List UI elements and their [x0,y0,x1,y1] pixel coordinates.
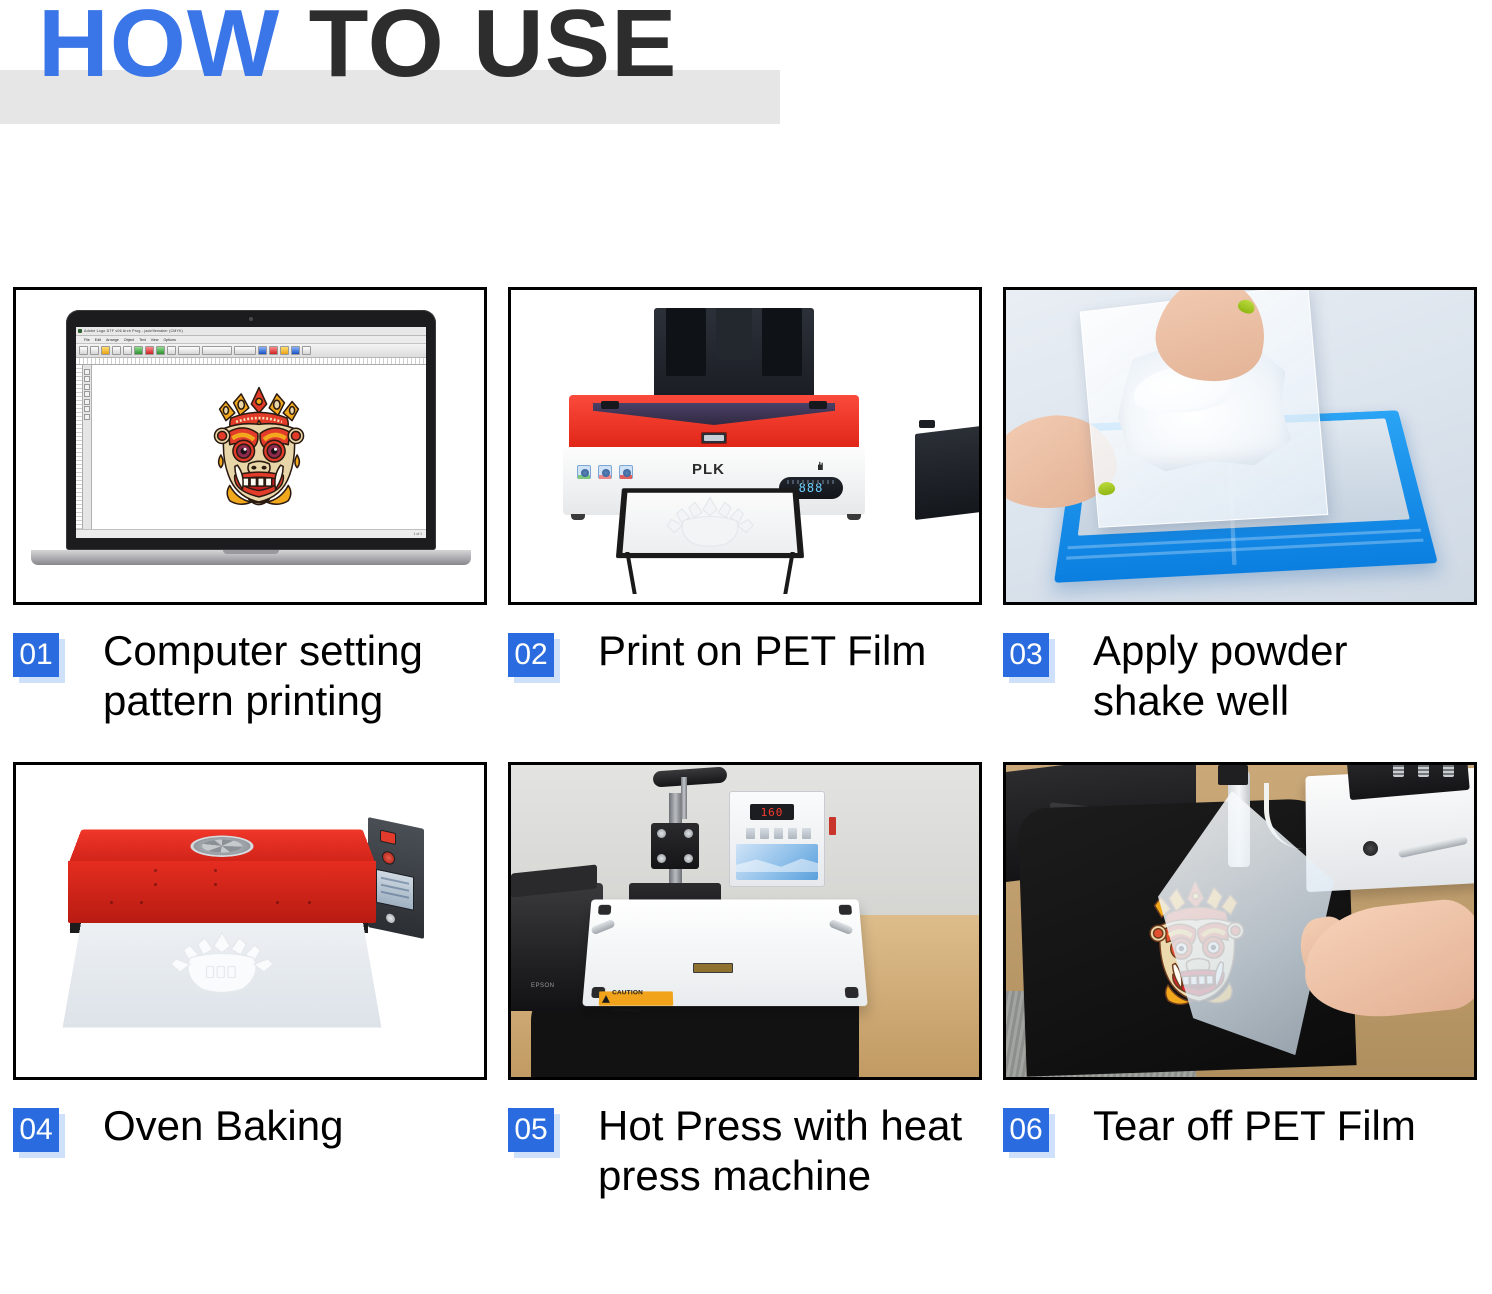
platen-corner-tr [839,905,852,915]
app-statusbar: 1 of 1 [76,529,426,538]
step-caption-04: 04 Oven Baking [13,1101,487,1158]
step-cell-03: 03 Apply powder shake well [1003,287,1477,725]
step-badge-06: 06 [1003,1108,1059,1158]
step-badge-02: 02 [508,633,564,683]
step-cell-05: EPSON 160 [508,762,982,1200]
printer-ink-cap [919,420,935,428]
press-button-set[interactable] [746,828,755,839]
warning-triangle-icon [602,995,610,1003]
caution-subtitle: HOT SURFACES [612,1008,640,1012]
printer-ink-tank [915,426,981,520]
press-pivot-bracket [651,823,699,869]
press-control-buttons [746,828,811,839]
oven-fan-vent-icon [190,836,255,857]
badge-number: 04 [13,1108,59,1152]
menu-item-arrange[interactable]: Arrange [106,338,119,342]
step-caption-text: Tear off PET Film [1071,1101,1416,1151]
step-cell-04: 04 Oven Baking [13,762,487,1200]
app-titlebar: Adobe Logo DTF v06 Arch Prog - jackfilem… [76,327,426,336]
scene-peel-film-off-shirt [1006,765,1474,1077]
tool-text[interactable] [84,399,90,405]
menu-item-options[interactable]: Options [164,338,176,342]
printer-button-group [577,465,633,479]
epson-brand-label: EPSON [531,983,555,989]
press-nameplate [693,963,733,973]
step-cell-01: Adobe Logo DTF v06 Arch Prog - jackfilem… [13,287,487,725]
step-photo-04 [13,762,487,1080]
step-caption-01: 01 Computer setting pattern printing [13,626,487,725]
toolbar-button-copy[interactable] [134,346,143,355]
step-badge-04: 04 [13,1108,69,1158]
printer-latch-left[interactable] [601,401,619,409]
printer-brand-logo: PLK [692,461,725,478]
app-icon [78,329,82,333]
printer-feed-button[interactable] [598,465,612,479]
badge-number: 05 [508,1108,554,1152]
step-caption-05: 05 Hot Press with heat press machine [508,1101,982,1200]
printer-cancel-button[interactable] [619,465,633,479]
caution-sticker: CAUTION HOT SURFACES [599,992,673,1006]
printer-feeder-guide [716,308,752,360]
vertical-ruler [76,365,83,529]
toolbar-button-effects[interactable] [302,346,311,355]
step-caption-text: Computer setting pattern printing [81,626,471,725]
toolbar-button-undo[interactable] [156,346,165,355]
toolbar-size-select[interactable] [234,346,256,355]
press-control-box: 160 [729,791,825,887]
app-canvas-area [76,365,426,529]
printer-touch-icon [815,461,825,470]
platen-corner-tl [598,905,611,915]
step-badge-05: 05 [508,1108,564,1158]
laptop-base [31,550,471,565]
toolbar-button-paste[interactable] [145,346,154,355]
scene-laptop-design-software: Adobe Logo DTF v06 Arch Prog - jackfilem… [16,290,484,602]
app-menubar: File Edit Arrange Object Text View Optio… [76,336,426,344]
step-caption-text: Oven Baking [81,1101,343,1151]
printer-status-window [701,432,727,444]
press-button-mode[interactable] [788,828,797,839]
printer-latch-right[interactable] [809,401,827,409]
pet-film-sheet [622,493,797,553]
press-button-up[interactable] [760,828,769,839]
tool-zoom[interactable] [84,414,90,420]
printer-power-button[interactable] [577,465,591,479]
toolbar-font-select[interactable] [202,346,232,355]
printer-display-value: 888 [799,481,824,495]
menu-item-object[interactable]: Object [124,338,134,342]
step-cell-06: 06 Tear off PET Film [1003,762,1477,1200]
app-window-title: Adobe Logo DTF v06 Arch Prog - jackfilem… [84,329,183,333]
step-photo-02: PLK 888 [508,287,982,605]
app-status-text: 1 of 1 [414,532,422,536]
printer-top-cover [569,395,859,447]
menu-item-text[interactable]: Text [139,338,146,342]
scene-powder-tray-hands [1006,290,1474,602]
tool-pen[interactable] [84,391,90,397]
step-photo-05: EPSON 160 [508,762,982,1080]
steps-grid: Adobe Logo DTF v06 Arch Prog - jackfilem… [13,287,1479,1200]
laptop-screen: Adobe Logo DTF v06 Arch Prog - jackfilem… [76,327,426,538]
press-temperature-display: 160 [750,804,794,820]
menu-item-file[interactable]: File [84,338,90,342]
laptop: Adobe Logo DTF v06 Arch Prog - jackfilem… [66,310,436,550]
toolbar-button-stroke[interactable] [269,346,278,355]
tool-node[interactable] [84,376,90,382]
scene-dtf-printer: PLK 888 [511,290,979,602]
press-power-switch[interactable] [829,817,836,835]
step-caption-06: 06 Tear off PET Film [1003,1101,1477,1158]
horizontal-ruler [76,358,426,365]
tool-shape[interactable] [84,384,90,390]
toolbar-button-gradient[interactable] [280,346,289,355]
tool-palette [83,365,92,529]
badge-number: 02 [508,633,554,677]
page-title-rest: TO USE [280,0,677,97]
toolbar-button-palette[interactable] [291,346,300,355]
steps-row-1: Adobe Logo DTF v06 Arch Prog - jackfilem… [13,287,1479,725]
step-caption-text: Hot Press with heat press machine [576,1101,966,1200]
menu-item-edit[interactable]: Edit [95,338,101,342]
toolbar-button-print[interactable] [112,346,121,355]
baked-powder-design [160,929,284,1001]
platen-corner-br [845,987,859,998]
step-badge-01: 01 [13,633,69,683]
page-header: HOW TO USE [0,0,1492,150]
oven-temperature-knob[interactable] [382,850,395,866]
press-button-down[interactable] [774,828,783,839]
tool-select[interactable] [84,369,90,375]
oven-port [386,913,395,924]
press-button-start[interactable] [802,828,811,839]
scene-curing-oven [16,765,484,1077]
page-title-accent: HOW [38,0,280,97]
step-caption-03: 03 Apply powder shake well [1003,626,1477,725]
toolbar-button-fill[interactable] [258,346,267,355]
step-photo-01: Adobe Logo DTF v06 Arch Prog - jackfilem… [13,287,487,605]
step-caption-text: Apply powder shake well [1071,626,1461,725]
printer-window [593,403,835,425]
toolbar-button-cut[interactable] [123,346,132,355]
toolbar-button-redo[interactable] [167,346,176,355]
steps-row-2: 04 Oven Baking EPSON [13,762,1479,1200]
tool-fill[interactable] [84,406,90,412]
step-photo-06 [1003,762,1477,1080]
heat-press-knob[interactable] [1363,841,1378,856]
badge-number: 03 [1003,633,1049,677]
printer-output-tray [616,488,804,558]
printer-foot-right [847,514,861,520]
step-caption-02: 02 Print on PET Film [508,626,982,683]
toolbar-zoom-select[interactable] [178,346,200,355]
webcam-icon [249,317,253,321]
page-title: HOW TO USE [38,0,677,92]
badge-number: 01 [13,633,59,677]
caution-title: CAUTION [612,989,643,996]
design-canvas[interactable] [92,365,426,529]
press-handle-rod [681,777,687,819]
step-photo-03 [1003,287,1477,605]
laptop-notch [223,550,279,554]
heat-press-springs [1393,762,1454,777]
oven-display [376,869,414,911]
printer-tray-legs [623,552,797,594]
scene-heat-press-machine: EPSON 160 [511,765,979,1077]
oven-top-cover [68,830,376,865]
laptop-lid: Adobe Logo DTF v06 Arch Prog - jackfilem… [66,310,436,550]
heat-press-clamp [1218,765,1248,785]
toolbar-button-new[interactable] [79,346,88,355]
step-cell-02: PLK 888 [508,287,982,725]
oven-front-housing [68,861,376,923]
toolbar-button-save[interactable] [101,346,110,355]
step-badge-03: 03 [1003,633,1059,683]
press-display-value: 160 [761,806,784,819]
toolbar-button-open[interactable] [90,346,99,355]
app-toolbar [76,344,426,358]
badge-number: 06 [1003,1108,1049,1152]
oven-control-panel [368,817,424,939]
printer-foot-left [571,514,585,520]
pet-film-output [63,917,382,1027]
barong-mask-artwork [195,385,323,509]
white-powder-print-preview [657,496,764,550]
oven-power-switch[interactable] [380,830,396,845]
menu-item-view[interactable]: View [151,338,159,342]
press-panel-graphic [736,844,818,880]
step-caption-text: Print on PET Film [576,626,926,676]
